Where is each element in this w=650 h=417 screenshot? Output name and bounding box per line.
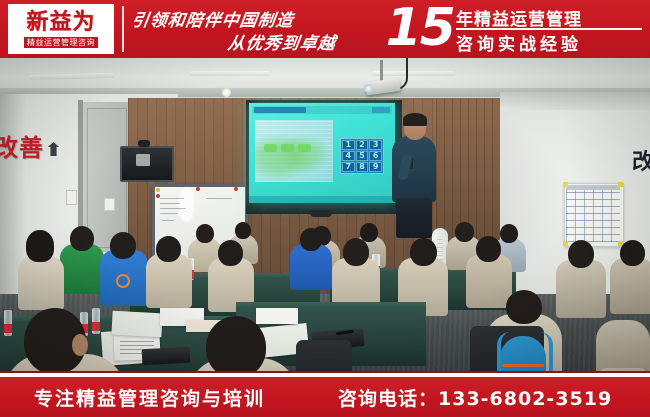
slogan-line-2: 从优秀到卓越 bbox=[226, 29, 338, 54]
company-logo: 新益为 精益运营管理咨询 bbox=[8, 4, 114, 54]
slogan-line-1: 引领和陪伴中国制造 bbox=[130, 6, 296, 31]
footer-phone: 咨询电话：133-6802-3519 bbox=[338, 384, 612, 411]
years-number: 15 bbox=[386, 0, 454, 57]
promo-image-page: 新益为 精益运营管理咨询 引领和陪伴中国制造 从优秀到卓越 15 年精益运营管理… bbox=[0, 0, 650, 417]
header-banner: 新益为 精益运营管理咨询 引领和陪伴中国制造 从优秀到卓越 15 年精益运营管理… bbox=[0, 0, 650, 58]
experience-line-1: 年精益运营管理 bbox=[456, 5, 582, 30]
footer-banner: 专注精益管理咨询与培训 咨询电话：133-6802-3519 bbox=[0, 377, 650, 417]
logo-main-text: 新益为 bbox=[26, 11, 95, 35]
experience-line-2: 咨询实战经验 bbox=[456, 30, 582, 55]
header-experience-block: 年精益运营管理 咨询实战经验 bbox=[456, 4, 644, 54]
training-classroom-photo: 改善 bbox=[0, 58, 650, 371]
footer-tagline: 专注精益管理咨询与培训 bbox=[34, 384, 265, 411]
photo-vignette bbox=[0, 58, 650, 371]
header-divider bbox=[122, 6, 124, 52]
header-slogan: 引领和陪伴中国制造 从优秀到卓越 bbox=[132, 5, 382, 53]
logo-sub-text: 精益运营管理咨询 bbox=[24, 37, 98, 48]
